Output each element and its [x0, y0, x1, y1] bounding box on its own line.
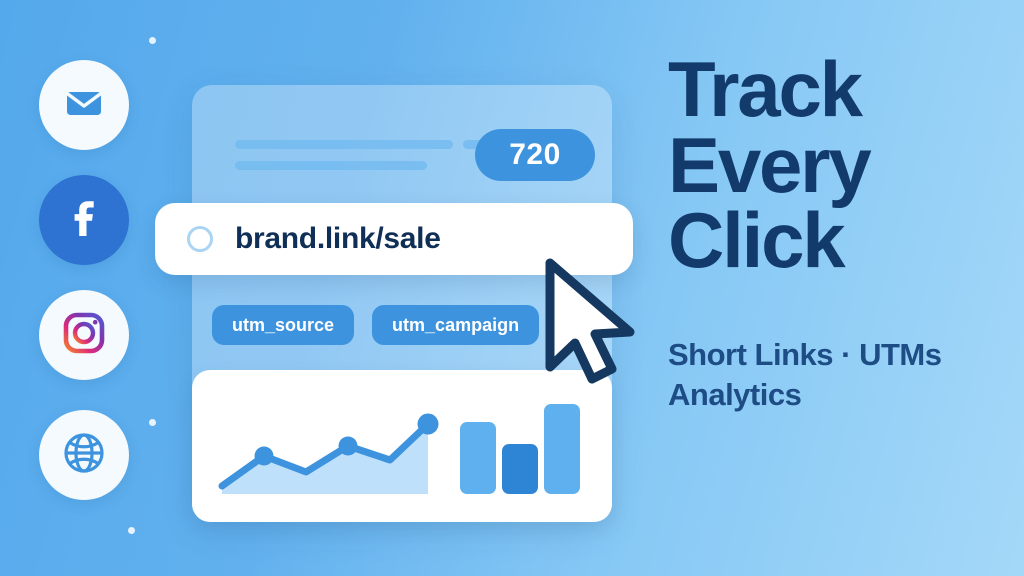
subtitle-line-2: Analytics	[668, 375, 998, 415]
channel-bar-chart	[454, 382, 584, 510]
social-icon-email[interactable]	[39, 60, 129, 150]
subtitle: Short Links · UTMs Analytics	[668, 335, 998, 414]
social-icon-website[interactable]	[39, 410, 129, 500]
facebook-icon	[59, 193, 109, 248]
skeleton-bar	[235, 161, 427, 170]
decorative-dot	[149, 37, 156, 44]
utm-parameter-pills: utm_source utm_campaign	[212, 305, 539, 345]
promo-graphic: 720 brand.link/sale utm_source utm_campa…	[0, 0, 1024, 576]
headline-line-1: Track	[668, 52, 1008, 128]
social-icon-facebook[interactable]	[39, 175, 129, 265]
instagram-icon	[58, 307, 110, 364]
short-link-search-bar[interactable]: brand.link/sale	[155, 203, 633, 275]
utm-pill-campaign[interactable]: utm_campaign	[372, 305, 539, 345]
social-icon-instagram[interactable]	[39, 290, 129, 380]
analytics-panel	[192, 370, 612, 522]
headline-line-3: Click	[668, 203, 1008, 279]
skeleton-bar	[235, 140, 453, 149]
globe-icon	[58, 427, 110, 484]
area-chart-marker	[255, 447, 274, 466]
utm-pill-source[interactable]: utm_source	[212, 305, 354, 345]
clicks-area-chart	[210, 382, 440, 510]
bar-chart-bar	[544, 404, 580, 494]
bar-chart-bar	[502, 444, 538, 494]
click-count-badge: 720	[475, 129, 595, 181]
bar-chart-bar	[460, 422, 496, 494]
link-url-value: brand.link/sale	[235, 222, 441, 256]
area-chart-marker	[418, 414, 439, 435]
decorative-dot	[149, 419, 156, 426]
subtitle-line-1: Short Links · UTMs	[668, 335, 998, 375]
headline-line-2: Every	[668, 128, 1008, 204]
area-chart-marker	[339, 437, 358, 456]
headline: Track Every Click	[668, 52, 1008, 279]
envelope-icon	[60, 79, 108, 132]
link-radio-icon[interactable]	[187, 226, 213, 252]
decorative-dot	[128, 527, 135, 534]
